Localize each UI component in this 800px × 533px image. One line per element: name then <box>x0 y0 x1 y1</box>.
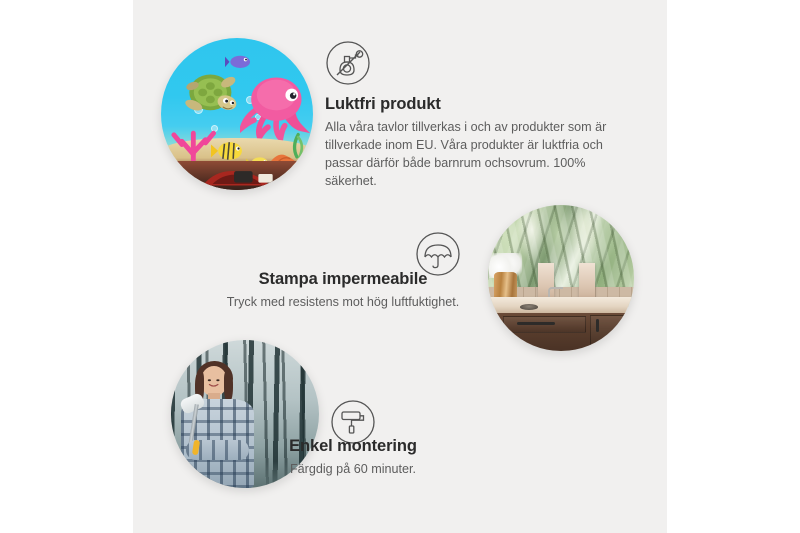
feature-heading: Stampa impermeabile <box>193 270 493 289</box>
feature-text-odourless: Luktfri produkt Alla våra tavlor tillver… <box>325 95 615 191</box>
content-panel: Luktfri produkt Alla våra tavlor tillver… <box>133 0 667 533</box>
feature-heading: Luktfri produkt <box>325 95 615 114</box>
feature-body: Färgdig på 60 minuter. <box>243 461 463 479</box>
face-features-icon <box>203 376 224 389</box>
underwater-cartoon-medallion <box>161 38 313 190</box>
underwater-scene <box>161 38 313 190</box>
bathroom-leaf-wallpaper-medallion <box>488 205 634 351</box>
feature-body: Alla våra tavlor tillverkas i och av pro… <box>325 119 615 191</box>
marble-countertop <box>488 297 634 315</box>
bathroom-scene <box>488 205 634 351</box>
drawer-handle <box>517 322 555 325</box>
no-perfume-spray-icon <box>325 40 371 86</box>
feature-infographic: Luktfri produkt Alla våra tavlor tillver… <box>0 0 800 533</box>
feature-text-waterproof: Stampa impermeabile Tryck med resistens … <box>193 270 493 312</box>
sea-turtle-icon <box>181 68 245 126</box>
towel-right <box>579 263 595 301</box>
soap-dish <box>520 304 538 310</box>
feature-text-easy-mounting: Enkel montering Färgdig på 60 minuter. <box>243 437 463 479</box>
feature-heading: Enkel montering <box>243 437 463 456</box>
feature-body: Tryck med resistens mot hög luftfuktighe… <box>193 294 493 312</box>
no-perfume-spray-icon-badge <box>325 40 371 86</box>
door-handle <box>596 319 599 332</box>
shipwreck-icon <box>194 164 291 188</box>
wood-vanity <box>497 313 634 351</box>
